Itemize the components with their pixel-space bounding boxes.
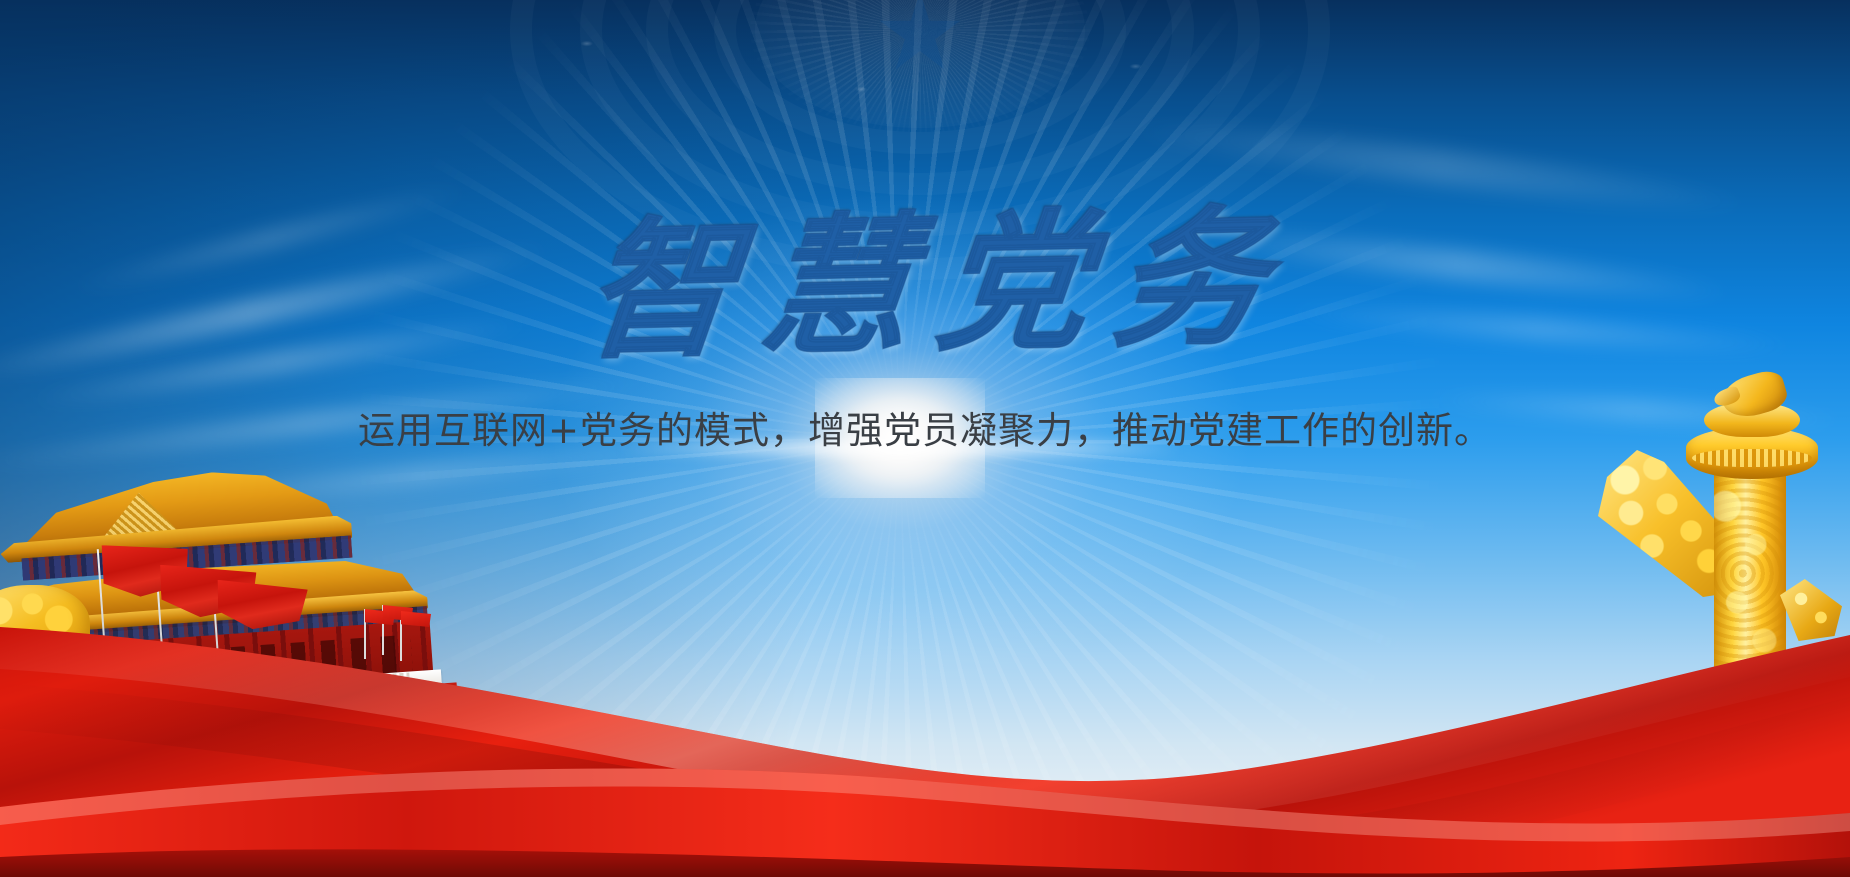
page-subtitle: 运用互联网+党务的模式，增强党员凝聚力，推动党建工作的创新。 xyxy=(0,408,1850,454)
red-silk-ribbon xyxy=(0,557,1850,877)
smart-party-affairs-banner: 中华人民共和国万岁 世界人民大团结万岁 xyxy=(0,0,1850,877)
ribbon-svg xyxy=(0,557,1850,877)
